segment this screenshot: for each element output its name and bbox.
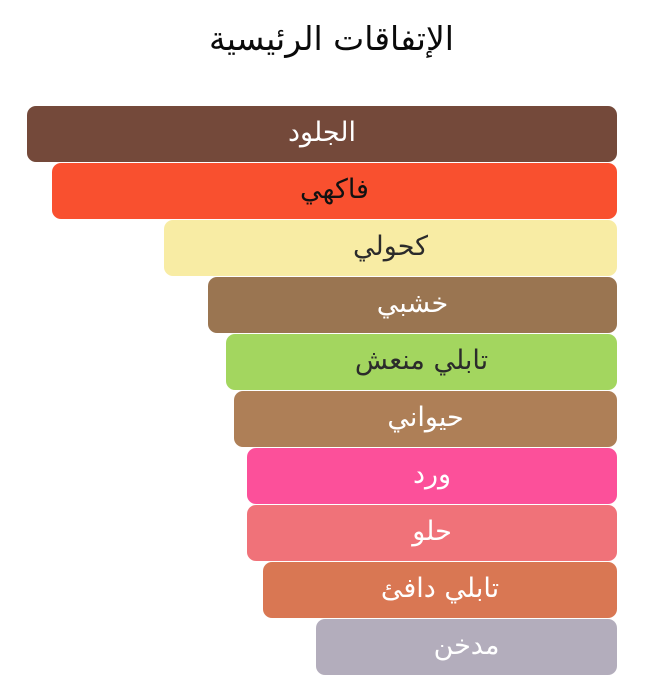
bar-label: حيواني bbox=[387, 404, 463, 434]
bar-row[interactable]: الجلود bbox=[27, 106, 617, 162]
bar-label: تابلي دافئ bbox=[381, 575, 499, 605]
bar-row[interactable]: مدخن bbox=[316, 619, 617, 675]
bar-label: كحولي bbox=[353, 233, 428, 263]
chart-title: الإتفاقات الرئيسية bbox=[0, 18, 663, 59]
bar-row[interactable]: كحولي bbox=[164, 220, 617, 276]
chart-root: الإتفاقات الرئيسية الجلودفاكهيكحوليخشبيت… bbox=[0, 0, 663, 687]
bar-label: حلو bbox=[412, 518, 452, 548]
bar-label: مدخن bbox=[434, 632, 500, 662]
bar-row[interactable]: فاكهي bbox=[52, 163, 617, 219]
bar-row[interactable]: حيواني bbox=[234, 391, 617, 447]
bar-label: فاكهي bbox=[300, 176, 369, 206]
bar-row[interactable]: حلو bbox=[247, 505, 617, 561]
bar-label: ورد bbox=[413, 461, 451, 491]
bar-label: خشبي bbox=[377, 290, 448, 320]
bar-list: الجلودفاكهيكحوليخشبيتابلي منعشحيوانيوردح… bbox=[0, 100, 663, 675]
bar-label: الجلود bbox=[288, 119, 356, 149]
bar-label: تابلي منعش bbox=[355, 347, 488, 377]
bar-row[interactable]: تابلي دافئ bbox=[263, 562, 617, 618]
bar-row[interactable]: خشبي bbox=[208, 277, 617, 333]
bar-row[interactable]: ورد bbox=[247, 448, 617, 504]
bar-row[interactable]: تابلي منعش bbox=[226, 334, 617, 390]
